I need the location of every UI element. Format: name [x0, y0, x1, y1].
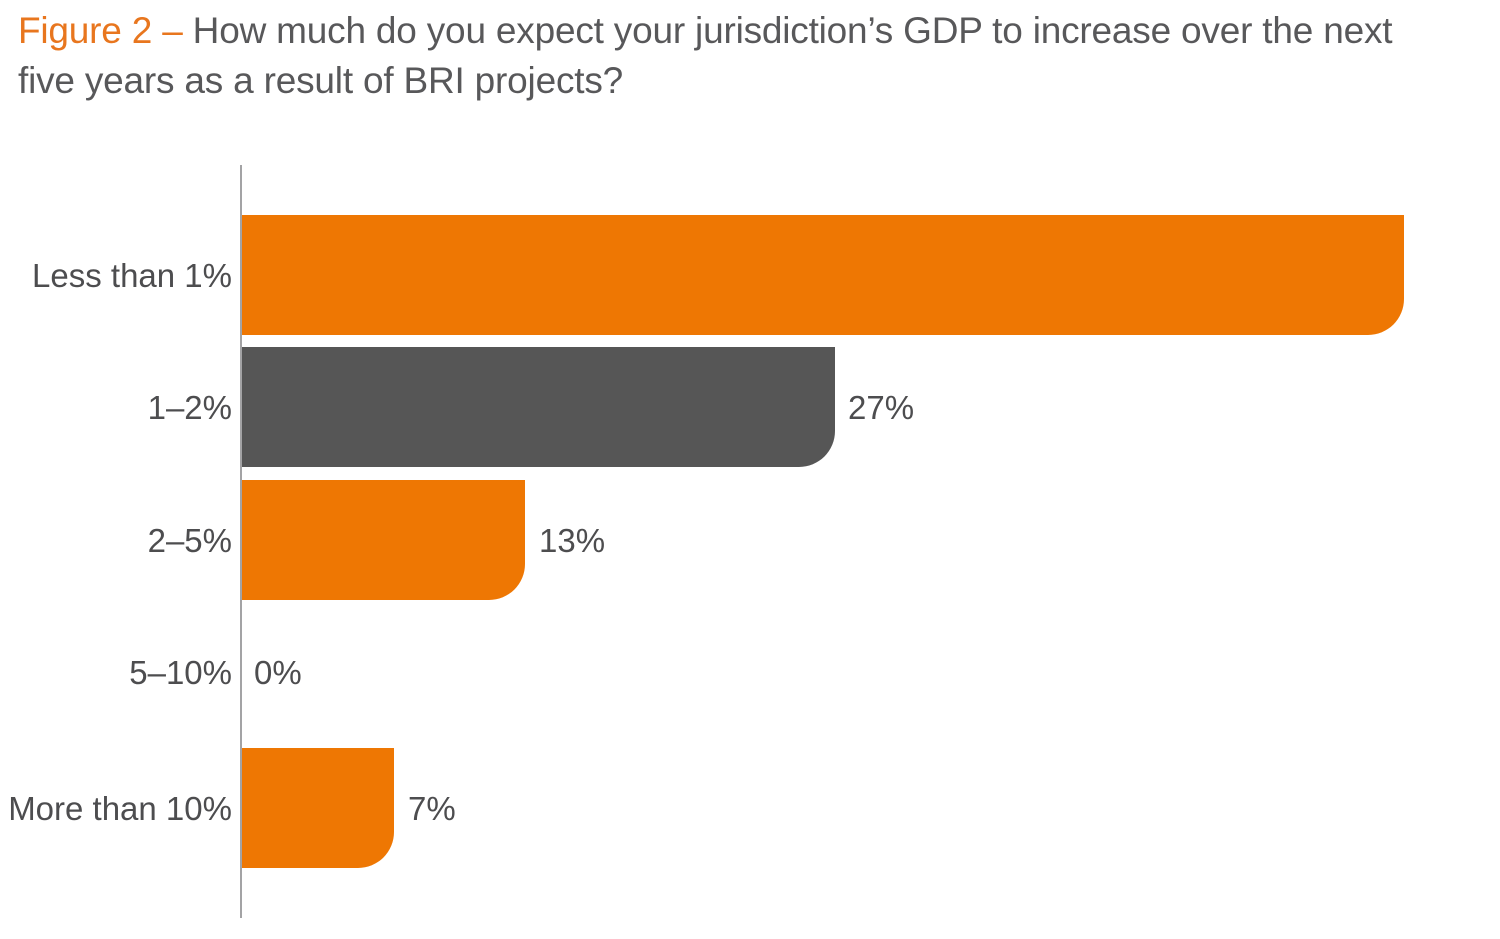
bar-value-label: 27%: [848, 390, 914, 426]
figure-container: Figure 2 – How much do you expect your j…: [0, 0, 1500, 939]
bar-row: 2–5% 13%: [0, 468, 1500, 618]
bar-row: 5–10% 0%: [0, 600, 1500, 750]
bar-row: 1–2% 27%: [0, 335, 1500, 485]
bar[interactable]: [242, 748, 394, 868]
category-label: Less than 1%: [0, 258, 232, 294]
bar[interactable]: [242, 215, 1404, 335]
bar[interactable]: [242, 347, 835, 467]
category-label: 5–10%: [0, 655, 232, 691]
bar-value-label: 13%: [539, 523, 605, 559]
chart-plot-area: Less than 1% 1–2% 27% 2–5% 13% 5–10% 0% …: [0, 0, 1500, 939]
bar-row: More than 10% 7%: [0, 736, 1500, 886]
bar-row: Less than 1%: [0, 203, 1500, 353]
bar-value-label: 0%: [254, 655, 302, 691]
category-label: More than 10%: [0, 791, 232, 827]
category-label: 1–2%: [0, 390, 232, 426]
bar-value-label: 7%: [408, 791, 456, 827]
bar[interactable]: [242, 480, 525, 600]
category-label: 2–5%: [0, 523, 232, 559]
